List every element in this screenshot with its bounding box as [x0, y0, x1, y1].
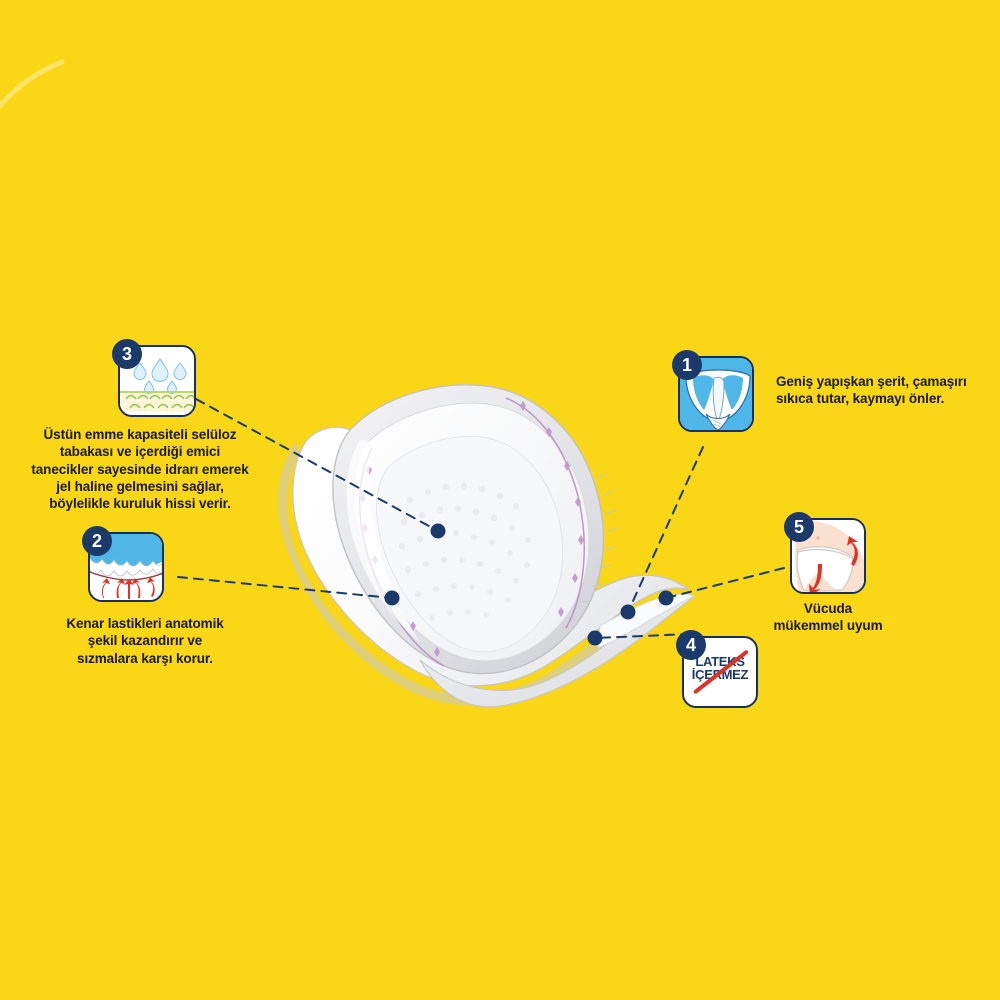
hotspot-dot-4 — [588, 631, 603, 646]
feature-caption-2: Kenar lastikleri anatomik şekil kazandır… — [30, 615, 260, 667]
connector-1 — [628, 447, 703, 612]
feature-caption-1: Geniş yapışkan şerit, çamaşırı sıkıca tu… — [776, 373, 996, 408]
connector-5 — [666, 568, 784, 598]
caption-line: böylelikle kuruluk hissi verir. — [14, 495, 266, 512]
infographic-canvas: 3 Üstün emme kapasiteli selüloz tabakası… — [0, 0, 1000, 1000]
hotspot-dot-1 — [621, 605, 636, 620]
caption-line: jel haline gelmesini sağlar, — [14, 478, 266, 495]
caption-line: Kenar lastikleri anatomik — [30, 615, 260, 632]
feature-badge-1: 1 — [672, 350, 702, 380]
caption-line: tabakası ve içerdiği emici — [14, 443, 266, 460]
connector-2 — [178, 577, 392, 598]
caption-line: Vücuda — [752, 600, 904, 617]
feature-badge-4: 4 — [676, 630, 706, 660]
caption-line: Geniş yapışkan şerit, çamaşırı — [776, 373, 996, 390]
feature-caption-5: Vücuda mükemmel uyum — [752, 600, 904, 635]
feature-badge-3: 3 — [112, 339, 142, 369]
caption-line: sızmalara karşı korur. — [30, 650, 260, 667]
hotspot-dot-2 — [385, 591, 400, 606]
caption-line: sıkıca tutar, kaymayı önler. — [776, 390, 996, 407]
hotspot-dot-3 — [431, 524, 446, 539]
caption-line: mükemmel uyum — [752, 617, 904, 634]
caption-line: tanecikler sayesinde idrarı emerek — [14, 461, 266, 478]
caption-line: Üstün emme kapasiteli selüloz — [14, 426, 266, 443]
caption-line: şekil kazandırır ve — [30, 632, 260, 649]
feature-caption-3: Üstün emme kapasiteli selüloz tabakası v… — [14, 426, 266, 512]
hotspot-dot-5 — [659, 591, 674, 606]
connector-4 — [595, 634, 690, 638]
feature-badge-2: 2 — [82, 526, 112, 556]
feature-badge-5: 5 — [784, 512, 814, 542]
